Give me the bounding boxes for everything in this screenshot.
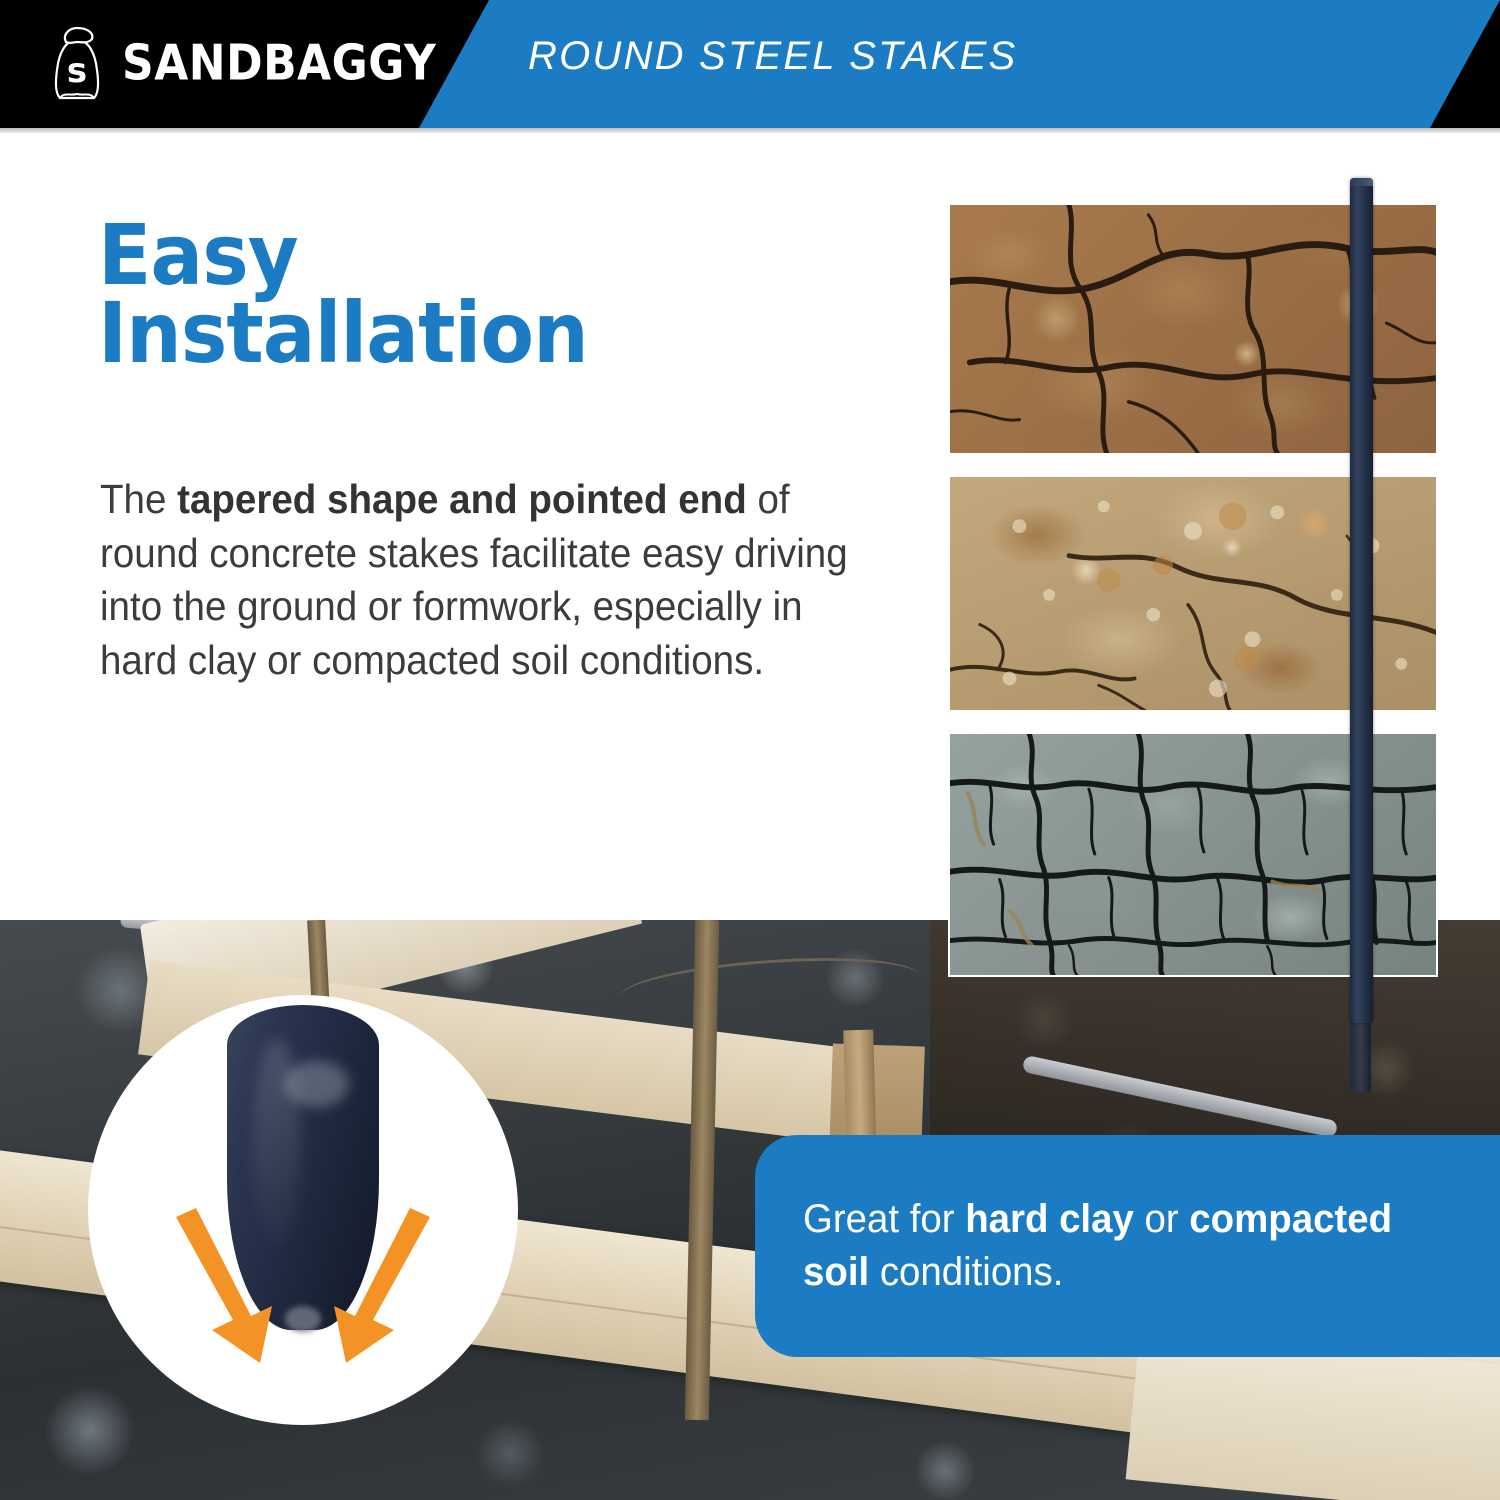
header-divider [0, 128, 1500, 133]
taper-arrows [88, 995, 518, 1425]
brand-logo[interactable]: s SANDBAGGY [46, 22, 436, 106]
callout-text: Great for hard clay or compacted soil co… [755, 1193, 1470, 1299]
callout-seg-1: Great for [803, 1197, 965, 1241]
body-seg-2-bold: tapered shape and pointed end [177, 476, 747, 522]
stake-tip-closeup-inset [88, 995, 518, 1425]
svg-text:s: s [67, 51, 87, 91]
brand-logo-text: SANDBAGGY [122, 39, 436, 88]
header-title: ROUND STEEL STAKES [528, 34, 1017, 79]
header-bar: s SANDBAGGY ROUND STEEL STAKES [0, 0, 1500, 128]
callout-seg-2-bold: hard clay [965, 1197, 1134, 1241]
round-steel-stake [1350, 178, 1373, 1023]
headline-line-2: Installation [98, 294, 588, 372]
infographic-poster: s SANDBAGGY ROUND STEEL STAKES Easy Inst… [0, 0, 1500, 1500]
body-paragraph: The tapered shape and pointed end of rou… [100, 473, 861, 688]
callout-box: Great for hard clay or compacted soil co… [755, 1135, 1500, 1357]
body-seg-1: The [100, 476, 177, 522]
sandbag-icon: s [46, 26, 108, 102]
callout-seg-3: or [1134, 1197, 1189, 1241]
page-title: Easy Installation [98, 216, 588, 372]
callout-seg-5: conditions. [869, 1250, 1063, 1294]
